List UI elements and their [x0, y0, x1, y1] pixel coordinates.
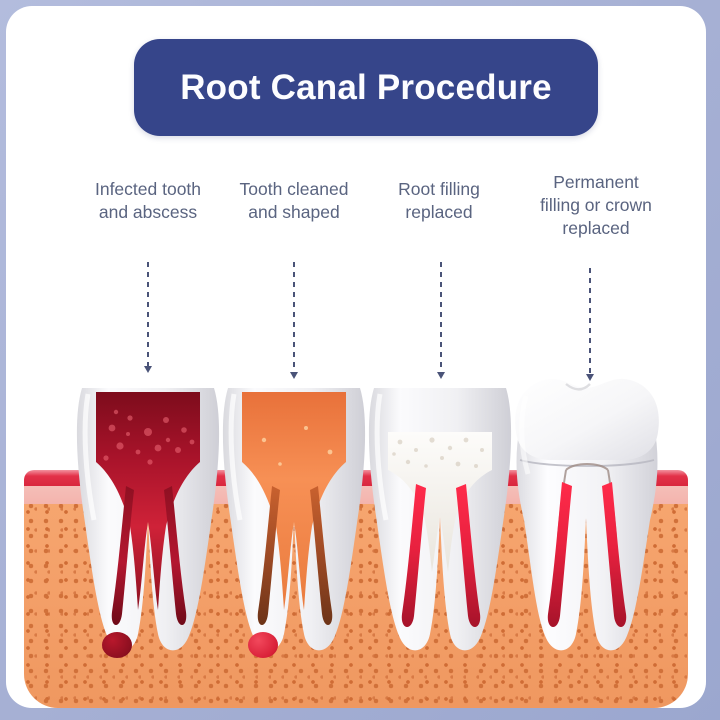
leader-dash-4 [589, 268, 591, 376]
step-label-2-line2: and shaped [214, 201, 374, 224]
leader-dash-1 [147, 262, 149, 368]
tooth-step-3-filled [360, 366, 522, 708]
step-label-4-line2: filling or crown [506, 194, 686, 217]
step-label-4: Permanent filling or crown replaced [506, 171, 686, 240]
step-label-2: Tooth cleaned and shaped [214, 178, 374, 224]
title-banner: Root Canal Procedure [134, 39, 598, 136]
tooth-4-crown [515, 379, 659, 460]
page-title: Root Canal Procedure [180, 68, 552, 108]
leader-line-2 [293, 262, 295, 374]
tooth-step-2-cleaned [214, 366, 376, 708]
step-label-1-line2: and abscess [68, 201, 228, 224]
step-label-4-line3: replaced [506, 217, 686, 240]
step-label-4-line1: Permanent [506, 171, 686, 194]
step-label-2-line1: Tooth cleaned [214, 178, 374, 201]
step-label-3: Root filling replaced [364, 178, 514, 224]
leader-line-1 [147, 262, 149, 368]
leader-line-3 [440, 262, 442, 374]
step-label-3-line1: Root filling [364, 178, 514, 201]
tooth-3-body [369, 388, 511, 650]
white-card: Root Canal Procedure Infected tooth and … [6, 6, 706, 708]
tooth-step-1-infected [68, 366, 230, 708]
leader-line-4 [589, 268, 591, 376]
infographic-root: Root Canal Procedure Infected tooth and … [0, 0, 720, 720]
step-label-1-line1: Infected tooth [68, 178, 228, 201]
anatomy-illustration [6, 366, 706, 708]
tooth-2-abscess [248, 632, 278, 658]
tooth-1-abscess [102, 632, 132, 658]
leader-dash-2 [293, 262, 295, 374]
leader-dash-3 [440, 262, 442, 374]
step-label-1: Infected tooth and abscess [68, 178, 228, 224]
tooth-step-4-crowned [506, 366, 668, 708]
step-label-3-line2: replaced [364, 201, 514, 224]
